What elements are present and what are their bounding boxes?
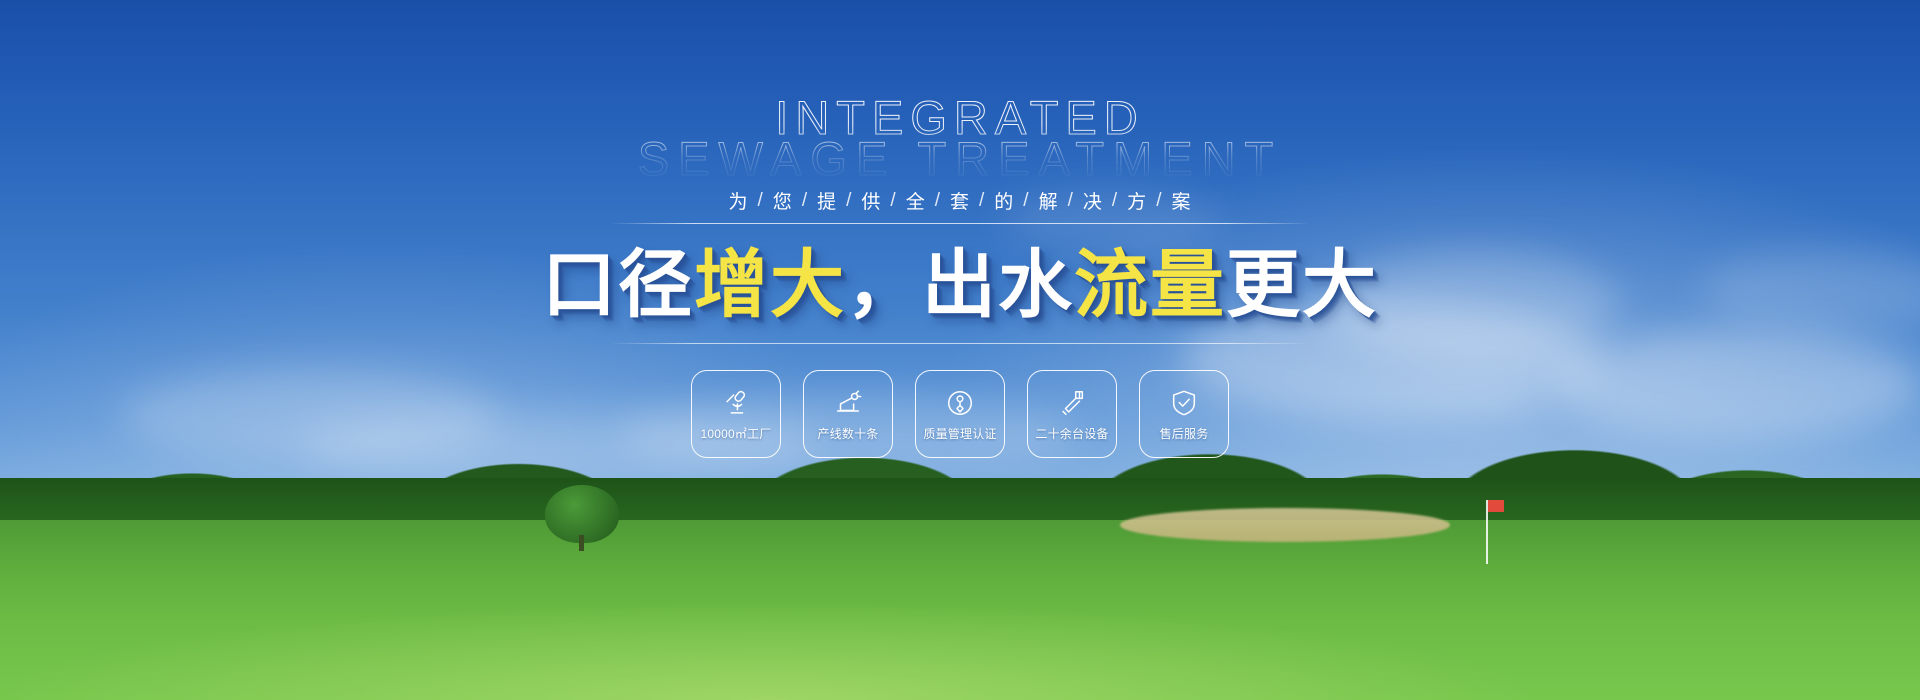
hero-banner: INTEGRATED SEWAGE TREATMENT 为/您/提/供/全/套/… xyxy=(0,0,1920,700)
subtitle-word: 全 xyxy=(897,187,935,214)
shield-check-icon xyxy=(1169,388,1199,418)
feature-badge-label: 产线数十条 xyxy=(817,425,878,442)
feature-badge[interactable]: 售后服务 xyxy=(1139,370,1229,458)
subtitle-word: 决 xyxy=(1074,187,1112,214)
headline-segment: ， xyxy=(846,243,922,326)
banner-content: INTEGRATED SEWAGE TREATMENT 为/您/提/供/全/套/… xyxy=(0,0,1920,458)
subtitle-word: 解 xyxy=(1030,187,1068,214)
english-eyebrow: INTEGRATED SEWAGE TREATMENT xyxy=(638,96,1283,181)
lawn-foreground xyxy=(0,520,1920,700)
golf-flag-icon xyxy=(1486,500,1488,564)
feature-badge-label: 售后服务 xyxy=(1160,425,1209,442)
subtitle-word: 的 xyxy=(985,187,1023,214)
headline-divider xyxy=(610,343,1310,344)
feature-badge-label: 质量管理认证 xyxy=(923,425,996,442)
solitary-tree xyxy=(545,485,619,543)
feature-badge-list: 10000㎡工厂产线数十条质量管理认证二十余台设备售后服务 xyxy=(691,370,1229,458)
feature-badge[interactable]: 二十余台设备 xyxy=(1027,370,1117,458)
main-headline: 口径增大，出水流量更大 xyxy=(542,244,1378,327)
headline-segment: 出水 xyxy=(922,243,1074,326)
subtitle-divider xyxy=(610,223,1310,224)
subtitle-word: 为 xyxy=(720,187,758,214)
subtitle-block: 为/您/提/供/全/套/的/解/决/方/案 xyxy=(610,187,1310,224)
subtitle-word: 套 xyxy=(941,187,979,214)
feature-badge-label: 10000㎡工厂 xyxy=(701,425,772,442)
subtitle-word: 提 xyxy=(808,187,846,214)
subtitle-word: 方 xyxy=(1118,187,1156,214)
headline-segment: 增大 xyxy=(694,243,846,326)
sand-bunker xyxy=(1120,508,1450,542)
equipment-tool-icon xyxy=(1057,388,1087,418)
feature-badge[interactable]: 10000㎡工厂 xyxy=(691,370,781,458)
subtitle-slash-text: 为/您/提/供/全/套/的/解/决/方/案 xyxy=(720,187,1201,214)
feature-badge[interactable]: 质量管理认证 xyxy=(915,370,1005,458)
microscope-icon xyxy=(721,388,751,418)
subtitle-word: 供 xyxy=(852,187,890,214)
feature-badge-label: 二十余台设备 xyxy=(1035,425,1108,442)
eyebrow-line-2: SEWAGE TREATMENT xyxy=(638,137,1283,182)
certificate-medal-icon xyxy=(945,388,975,418)
subtitle-word: 案 xyxy=(1162,187,1200,214)
production-line-icon xyxy=(833,388,863,418)
subtitle-word: 您 xyxy=(764,187,802,214)
headline-segment: 流量 xyxy=(1074,243,1226,326)
headline-segment: 更大 xyxy=(1226,243,1378,326)
feature-badge[interactable]: 产线数十条 xyxy=(803,370,893,458)
headline-segment: 口径 xyxy=(542,243,694,326)
